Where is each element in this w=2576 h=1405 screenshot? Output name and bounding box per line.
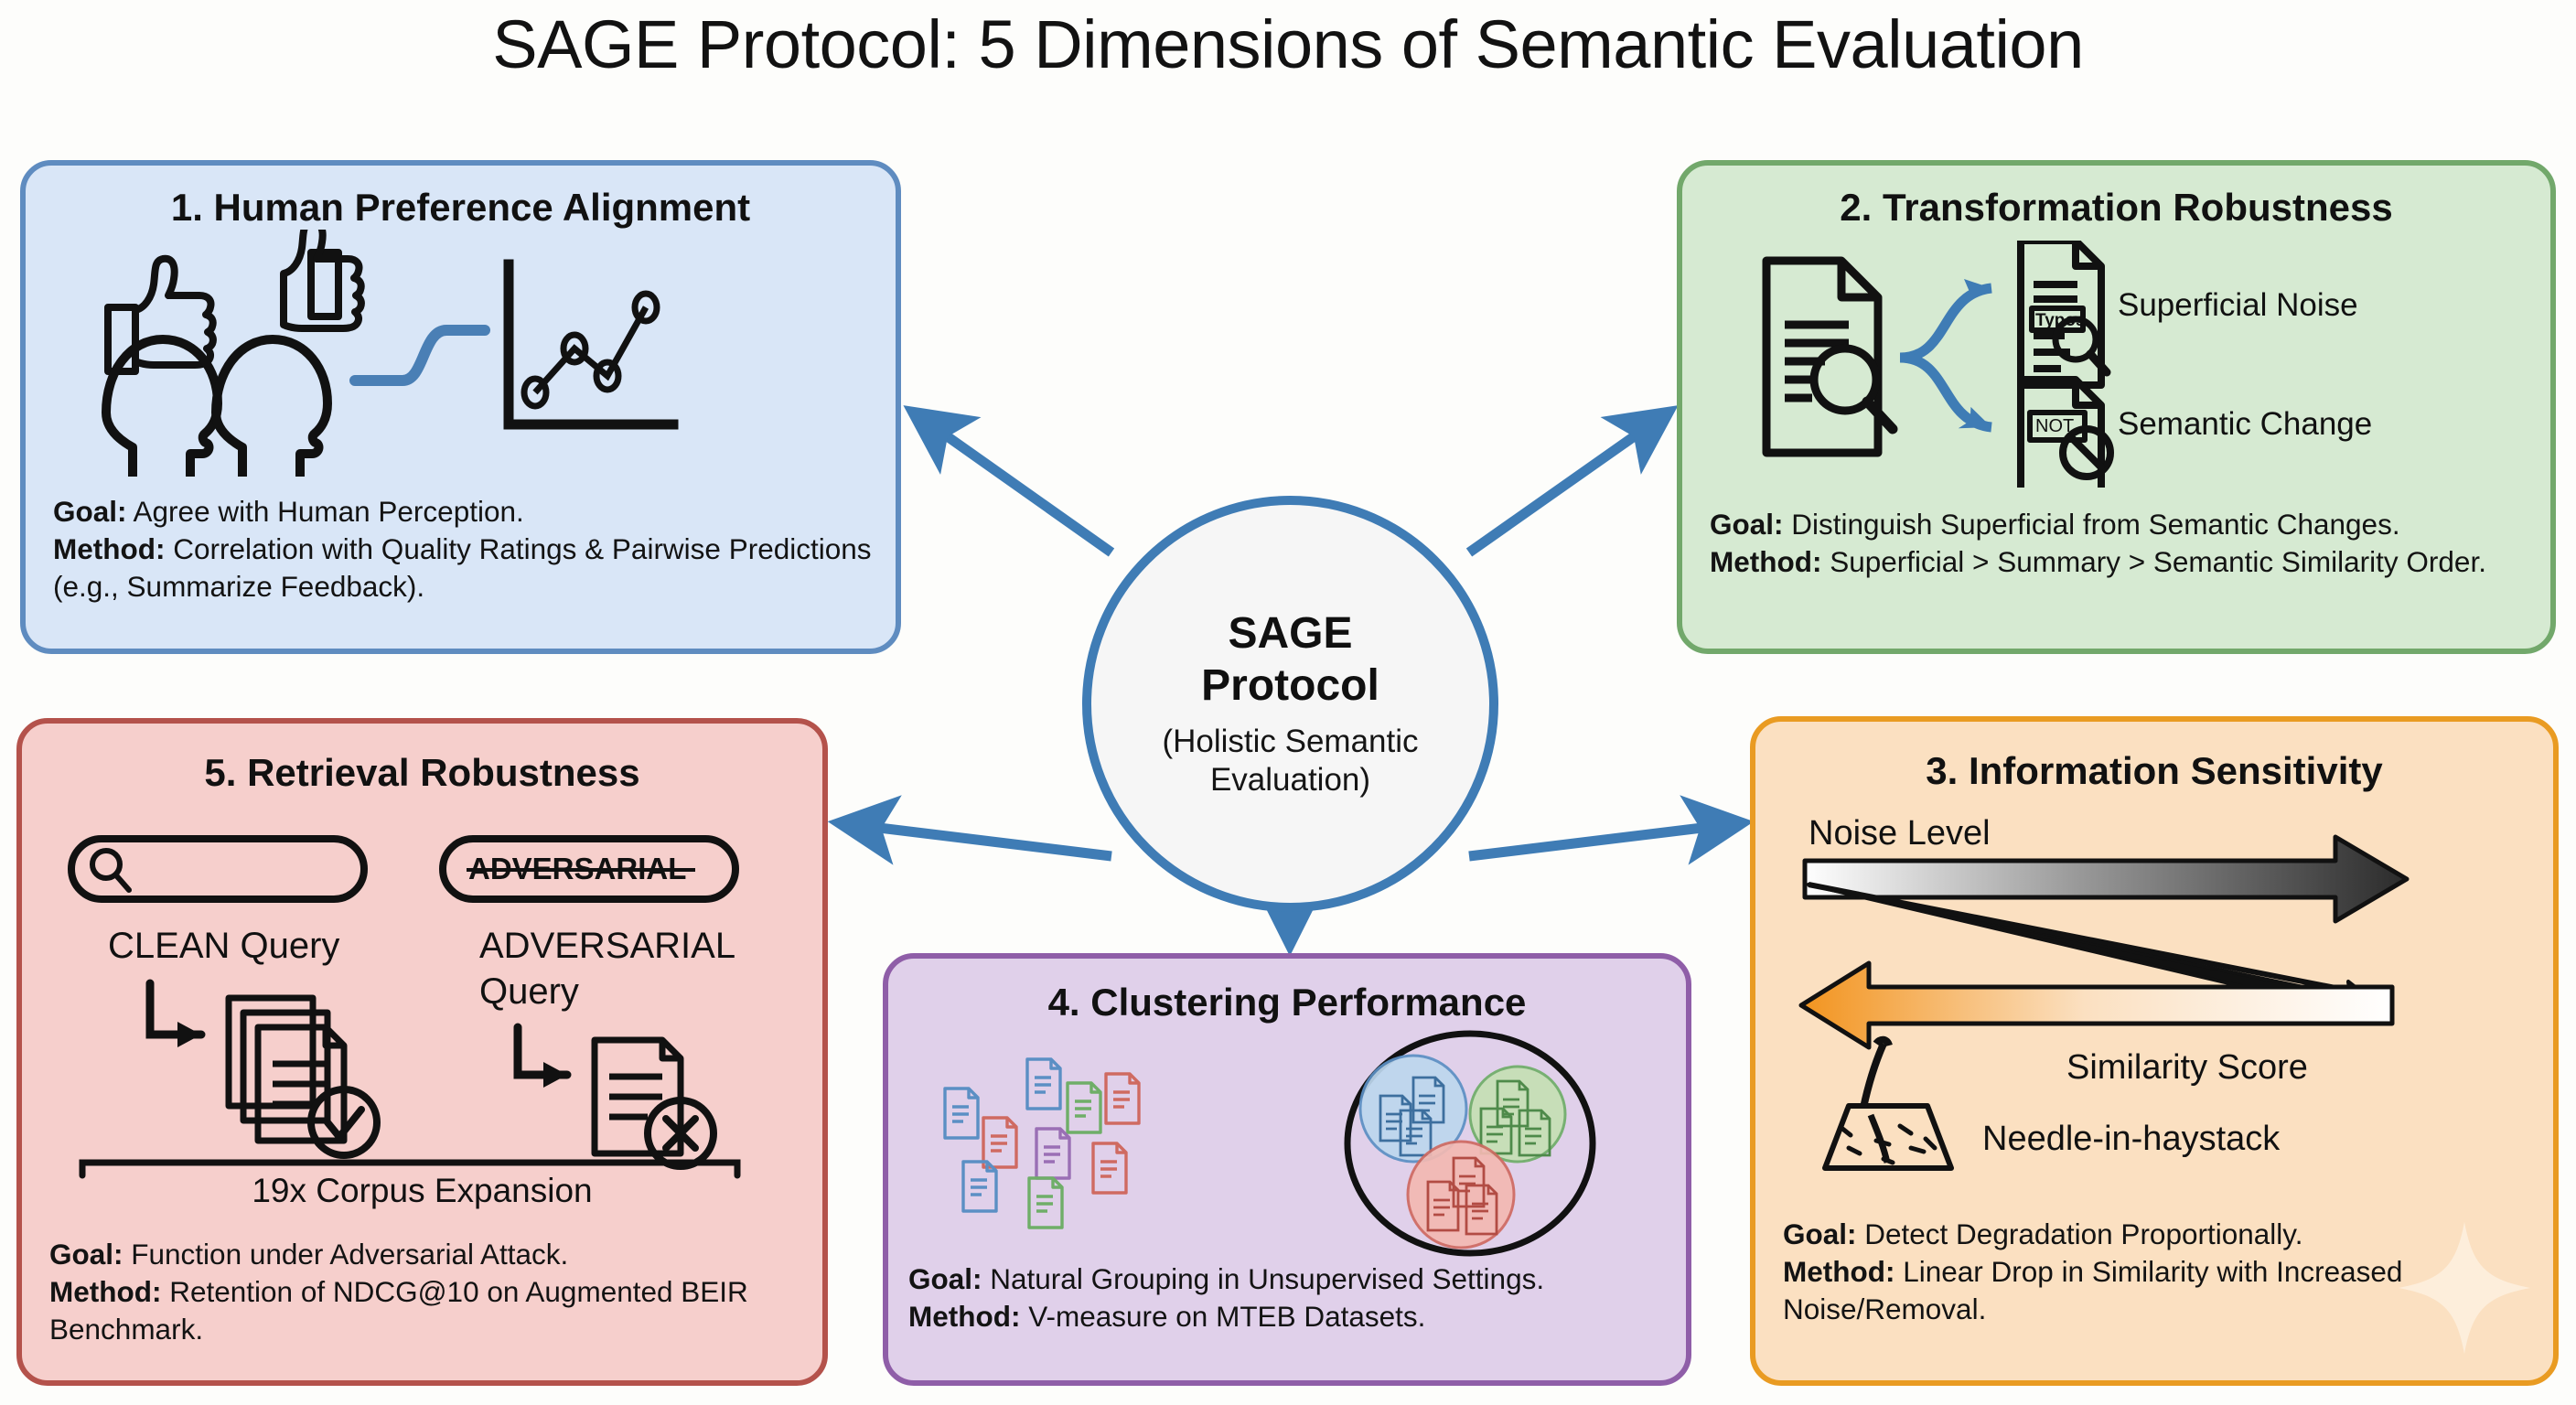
panel4-body: Goal: Natural Grouping in Unsupervised S… xyxy=(908,1260,1669,1335)
panel3-method-label: Method: xyxy=(1783,1255,1894,1288)
panel1-body: Goal: Agree with Human Perception. Metho… xyxy=(53,493,872,606)
panel2-goal-label: Goal: xyxy=(1710,508,1784,541)
panel5-illustration: CLEAN Query ADVERSARIAL ADVERSARIAL Quer… xyxy=(49,831,809,1197)
panel-transformation-robustness[interactable]: 2. Transformation Robustness xyxy=(1677,160,2556,654)
panel3-illustration: Noise Level Similarity Score Needle-in-h… xyxy=(1792,813,2524,1188)
panel-clustering-performance[interactable]: 4. Clustering Performance xyxy=(883,953,1691,1386)
scatter-doc xyxy=(983,1118,1016,1167)
panel4-title: 4. Clustering Performance xyxy=(888,981,1686,1024)
typos-tag: Typos xyxy=(2035,311,2086,330)
panel2-illustration: Typos Superficial Noise NOT Semantic Cha… xyxy=(1746,241,2533,488)
panel4-method-label: Method: xyxy=(908,1300,1020,1333)
hub-line2: Protocol xyxy=(1201,660,1379,713)
document-fail-icon xyxy=(595,1040,714,1166)
panel2-goal-text: Distinguish Superficial from Semantic Ch… xyxy=(1784,508,2400,541)
branch-arrow-up xyxy=(1900,288,1991,358)
page-title: SAGE Protocol: 5 Dimensions of Semantic … xyxy=(0,5,2576,83)
panel5-method-label: Method: xyxy=(49,1275,161,1308)
panel1-title: 1. Human Preference Alignment xyxy=(26,186,896,230)
scatter-doc xyxy=(1068,1083,1100,1132)
panel5-goal-label: Goal: xyxy=(49,1238,123,1271)
document-stack-success-icon xyxy=(229,998,377,1155)
panel4-illustration xyxy=(912,1030,1671,1259)
search-box-adversarial[interactable]: ADVERSARIAL xyxy=(443,839,735,899)
line-chart-icon xyxy=(509,264,673,424)
similarity-score-arrow xyxy=(1801,963,2392,1047)
panel1-method-text: Correlation with Quality Ratings & Pairw… xyxy=(53,532,872,603)
panel2-method-text: Superficial > Summary > Semantic Similar… xyxy=(1821,545,2485,578)
panel1-goal-text: Agree with Human Perception. xyxy=(127,495,524,528)
center-hub-sage-protocol[interactable]: SAGE Protocol (Holistic Semantic Evaluat… xyxy=(1082,496,1498,912)
adversarial-query-label-line1: ADVERSARIAL xyxy=(479,926,735,966)
head-profile-icon xyxy=(216,339,327,477)
panel4-method-text: V-measure on MTEB Datasets. xyxy=(1020,1300,1425,1333)
elbow-arrow-clean xyxy=(150,983,201,1047)
panel3-goal-text: Detect Degradation Proportionally. xyxy=(1857,1217,2303,1250)
hub-sub1: (Holistic Semantic xyxy=(1162,723,1418,761)
hub-sub2: Evaluation) xyxy=(1162,761,1418,799)
scatter-doc xyxy=(1027,1059,1060,1109)
s-curve-icon xyxy=(355,330,485,381)
diagram-canvas: SAGE Protocol: 5 Dimensions of Semantic … xyxy=(0,0,2576,1405)
search-box-clean[interactable] xyxy=(71,839,364,899)
needle-in-haystack-icon xyxy=(1825,1040,1951,1168)
scatter-doc xyxy=(945,1089,978,1138)
haystack-label: Needle-in-haystack xyxy=(1982,1120,2281,1158)
panel1-illustration xyxy=(80,230,849,477)
panel3-title: 3. Information Sensitivity xyxy=(1755,749,2553,793)
panel2-body: Goal: Distinguish Superficial from Seman… xyxy=(1710,506,2527,581)
panel1-goal-label: Goal: xyxy=(53,495,127,528)
thumbs-down-icon xyxy=(284,230,361,328)
scatter-doc xyxy=(1093,1143,1126,1193)
similarity-score-label: Similarity Score xyxy=(2066,1048,2308,1087)
search-icon xyxy=(92,851,129,890)
scatter-doc xyxy=(1106,1074,1139,1123)
semantic-change-label: Semantic Change xyxy=(2118,406,2372,442)
not-tag: NOT xyxy=(2035,416,2074,436)
hub-line1: SAGE xyxy=(1201,608,1379,660)
scatter-doc xyxy=(1036,1129,1069,1178)
head-profile-icon xyxy=(106,339,218,477)
panel3-goal-label: Goal: xyxy=(1783,1217,1857,1250)
corpus-expansion-label: 19x Corpus Expansion xyxy=(22,1172,822,1210)
elbow-arrow-adversarial xyxy=(518,1027,567,1088)
superficial-noise-label: Superficial Noise xyxy=(2118,287,2358,323)
scatter-doc xyxy=(1029,1178,1062,1228)
noise-level-label: Noise Level xyxy=(1809,814,1991,853)
panel-retrieval-robustness[interactable]: 5. Retrieval Robustness CLEAN Query ADVE… xyxy=(16,718,828,1386)
scatter-doc xyxy=(963,1162,996,1211)
panel2-method-label: Method: xyxy=(1710,545,1821,578)
clean-query-label: CLEAN Query xyxy=(108,926,339,966)
panel-human-preference-alignment[interactable]: 1. Human Preference Alignment xyxy=(20,160,901,654)
adversarial-query-label-line2: Query xyxy=(479,971,579,1012)
panel2-title: 2. Transformation Robustness xyxy=(1682,186,2550,230)
panel5-goal-text: Function under Adversarial Attack. xyxy=(123,1238,569,1271)
panel5-title: 5. Retrieval Robustness xyxy=(22,751,822,795)
panel4-goal-text: Natural Grouping in Unsupervised Setting… xyxy=(982,1262,1545,1295)
sparkle-watermark-icon xyxy=(2396,1219,2533,1357)
panel-information-sensitivity[interactable]: 3. Information Sensitivity Noise Level xyxy=(1750,716,2559,1386)
document-search-icon xyxy=(1766,261,1893,453)
panel1-method-label: Method: xyxy=(53,532,165,565)
panel5-body: Goal: Function under Adversarial Attack.… xyxy=(49,1236,799,1348)
panel4-goal-label: Goal: xyxy=(908,1262,982,1295)
